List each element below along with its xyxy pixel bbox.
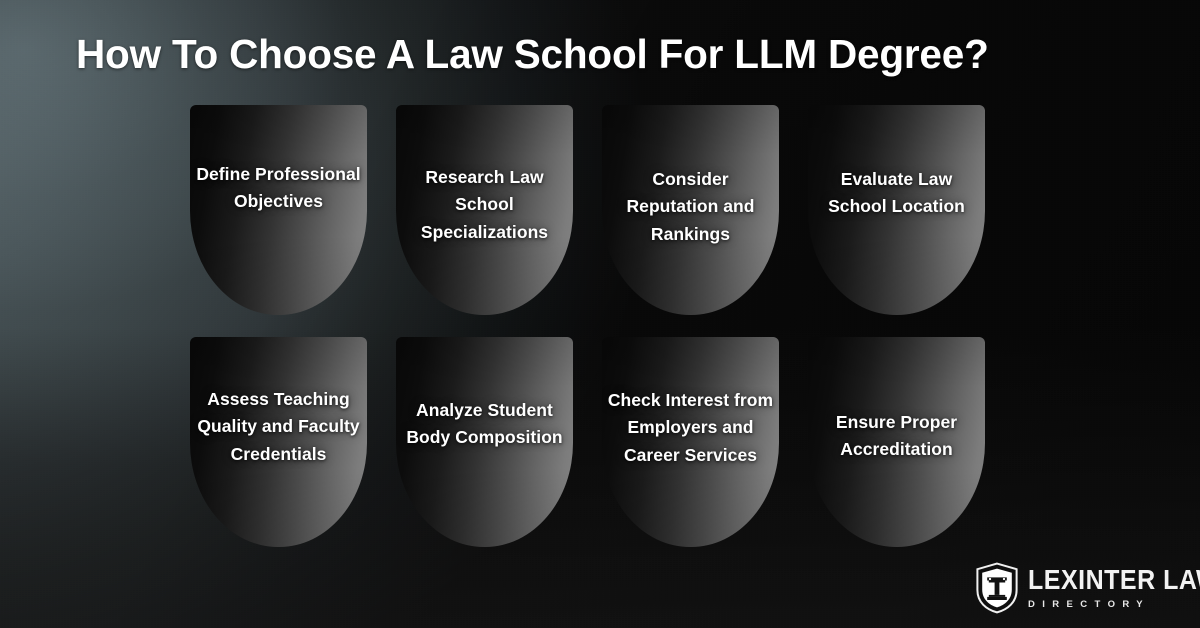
shield-card-7[interactable]: Check Interest from Employers and Career… [602, 337, 779, 547]
shield-card-4[interactable]: Evaluate Law School Location [808, 105, 985, 315]
shield-card-1[interactable]: Define Professional Objectives [190, 105, 367, 315]
page-title: How To Choose A Law School For LLM Degre… [76, 31, 1136, 78]
shield-label-8: Ensure Proper Accreditation [814, 409, 980, 464]
shield-card-5[interactable]: Assess Teaching Quality and Faculty Cred… [190, 337, 367, 547]
shield-card-8[interactable]: Ensure Proper Accreditation [808, 337, 985, 547]
shield-label-3: Consider Reputation and Rankings [608, 166, 774, 248]
shield-grid: Define Professional Objectives Research … [190, 105, 986, 547]
shield-label-2: Research Law School Specializations [402, 164, 568, 246]
shield-label-4: Evaluate Law School Location [814, 166, 980, 221]
shield-pillar-icon [975, 562, 1019, 614]
logo-name: LEXINTER LAW [1028, 567, 1200, 595]
shield-card-2[interactable]: Research Law School Specializations [396, 105, 573, 315]
shield-label-6: Analyze Student Body Composition [402, 397, 568, 452]
infographic-canvas: How To Choose A Law School For LLM Degre… [0, 0, 1200, 628]
logo-subtitle: DIRECTORY [1028, 600, 1200, 610]
shield-card-6[interactable]: Analyze Student Body Composition [396, 337, 573, 547]
logo-text-block: LEXINTER LAW DIRECTORY [1028, 566, 1200, 610]
brand-logo[interactable]: LEXINTER LAW DIRECTORY [975, 557, 1187, 619]
shield-label-1: Define Professional Objectives [196, 161, 362, 216]
shield-label-5: Assess Teaching Quality and Faculty Cred… [196, 386, 362, 468]
shield-label-7: Check Interest from Employers and Career… [608, 387, 774, 469]
shield-card-3[interactable]: Consider Reputation and Rankings [602, 105, 779, 315]
